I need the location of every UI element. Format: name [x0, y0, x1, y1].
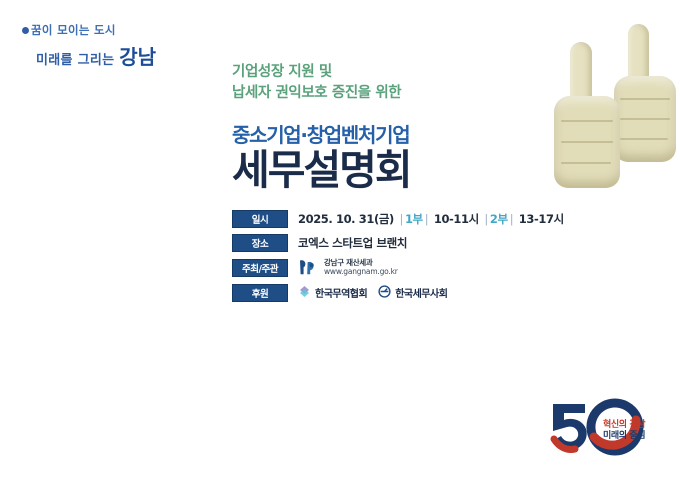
organizer-url[interactable]: www.gangnam.go.kr: [324, 268, 398, 277]
info-row-organizer: 주최/주관 강남구 재산세과 www.gangnam.go.kr: [232, 259, 532, 277]
emblem-line2: 미래의 중심: [603, 431, 645, 442]
subtitle-line1: 기업성장 지원 및: [232, 62, 532, 83]
sponsor-name: 한국세무사회: [395, 285, 447, 300]
kacpta-logo-icon: [378, 283, 391, 302]
part2-tag: 2부: [490, 212, 508, 226]
brand-logo-line2: 미래를 그리는 강남: [36, 41, 172, 70]
part1-time: 10-11시: [434, 212, 479, 226]
subtitle-line2: 납세자 권익보호 증진을 위한: [232, 83, 532, 104]
gangnam-gu-emblem-icon: [298, 259, 318, 276]
date-text: 2025. 10. 31(금): [298, 212, 394, 226]
date-separator: |: [399, 212, 402, 226]
date-separator: |: [510, 212, 513, 226]
anniversary-emblem: 혁신의 강남 미래의 중심: [545, 398, 667, 456]
info-label-sponsors: 후원: [232, 284, 288, 302]
sponsor-item-kita: 한국무역협회: [298, 283, 367, 302]
info-value-date: 2025. 10. 31(금) |1부| 10-11시 |2부| 13-17시: [298, 211, 564, 227]
gangnam-brand-logo: 꿈이 모이는 도시 미래를 그리는 강남: [22, 22, 172, 66]
kita-logo-icon: [298, 283, 311, 302]
subtitle-block: 기업성장 지원 및 납세자 권익보호 증진을 위한: [232, 62, 532, 103]
sponsor-item-kacpta: 한국세무사회: [378, 283, 447, 302]
sponsor-name: 한국무역협회: [315, 285, 367, 300]
organizer-text: 강남구 재산세과 www.gangnam.go.kr: [324, 259, 398, 277]
part1-tag: 1부: [405, 212, 423, 226]
emblem-line1: 혁신의 강남: [603, 420, 645, 431]
info-value-sponsors: 한국무역협회 한국세무사회: [298, 283, 447, 302]
brand-logo-line1: 꿈이 모이는 도시: [22, 22, 172, 38]
brand-logo-gangnam: 강남: [119, 45, 156, 69]
info-label-date: 일시: [232, 210, 288, 228]
part2-time: 13-17시: [519, 212, 564, 226]
info-row-date: 일시 2025. 10. 31(금) |1부| 10-11시 |2부| 13-1…: [232, 210, 532, 228]
date-separator: |: [425, 212, 428, 226]
info-list: 일시 2025. 10. 31(금) |1부| 10-11시 |2부| 13-1…: [232, 210, 532, 303]
info-row-venue: 장소 코엑스 스타트업 브랜치: [232, 234, 532, 252]
info-value-venue: 코엑스 스타트업 브랜치: [298, 235, 407, 251]
poster-content: 기업성장 지원 및 납세자 권익보호 증진을 위한 중소기업·창업벤처기업 세무…: [232, 62, 532, 309]
date-separator: |: [484, 212, 487, 226]
brand-dot-icon: [22, 27, 29, 34]
info-row-sponsors: 후원 한국무역협회: [232, 283, 532, 302]
info-label-venue: 장소: [232, 234, 288, 252]
info-label-organizer: 주최/주관: [232, 259, 288, 277]
info-value-organizer: 강남구 재산세과 www.gangnam.go.kr: [298, 259, 398, 277]
title-large: 세무설명회: [232, 150, 532, 192]
thumbs-up-icon: [540, 8, 680, 208]
title-small: 중소기업·창업벤처기업: [232, 119, 532, 148]
poster-canvas: 꿈이 모이는 도시 미래를 그리는 강남 기업성장 지원 및 납세자 권익보호 …: [0, 0, 680, 480]
emblem-text: 혁신의 강남 미래의 중심: [603, 420, 645, 443]
